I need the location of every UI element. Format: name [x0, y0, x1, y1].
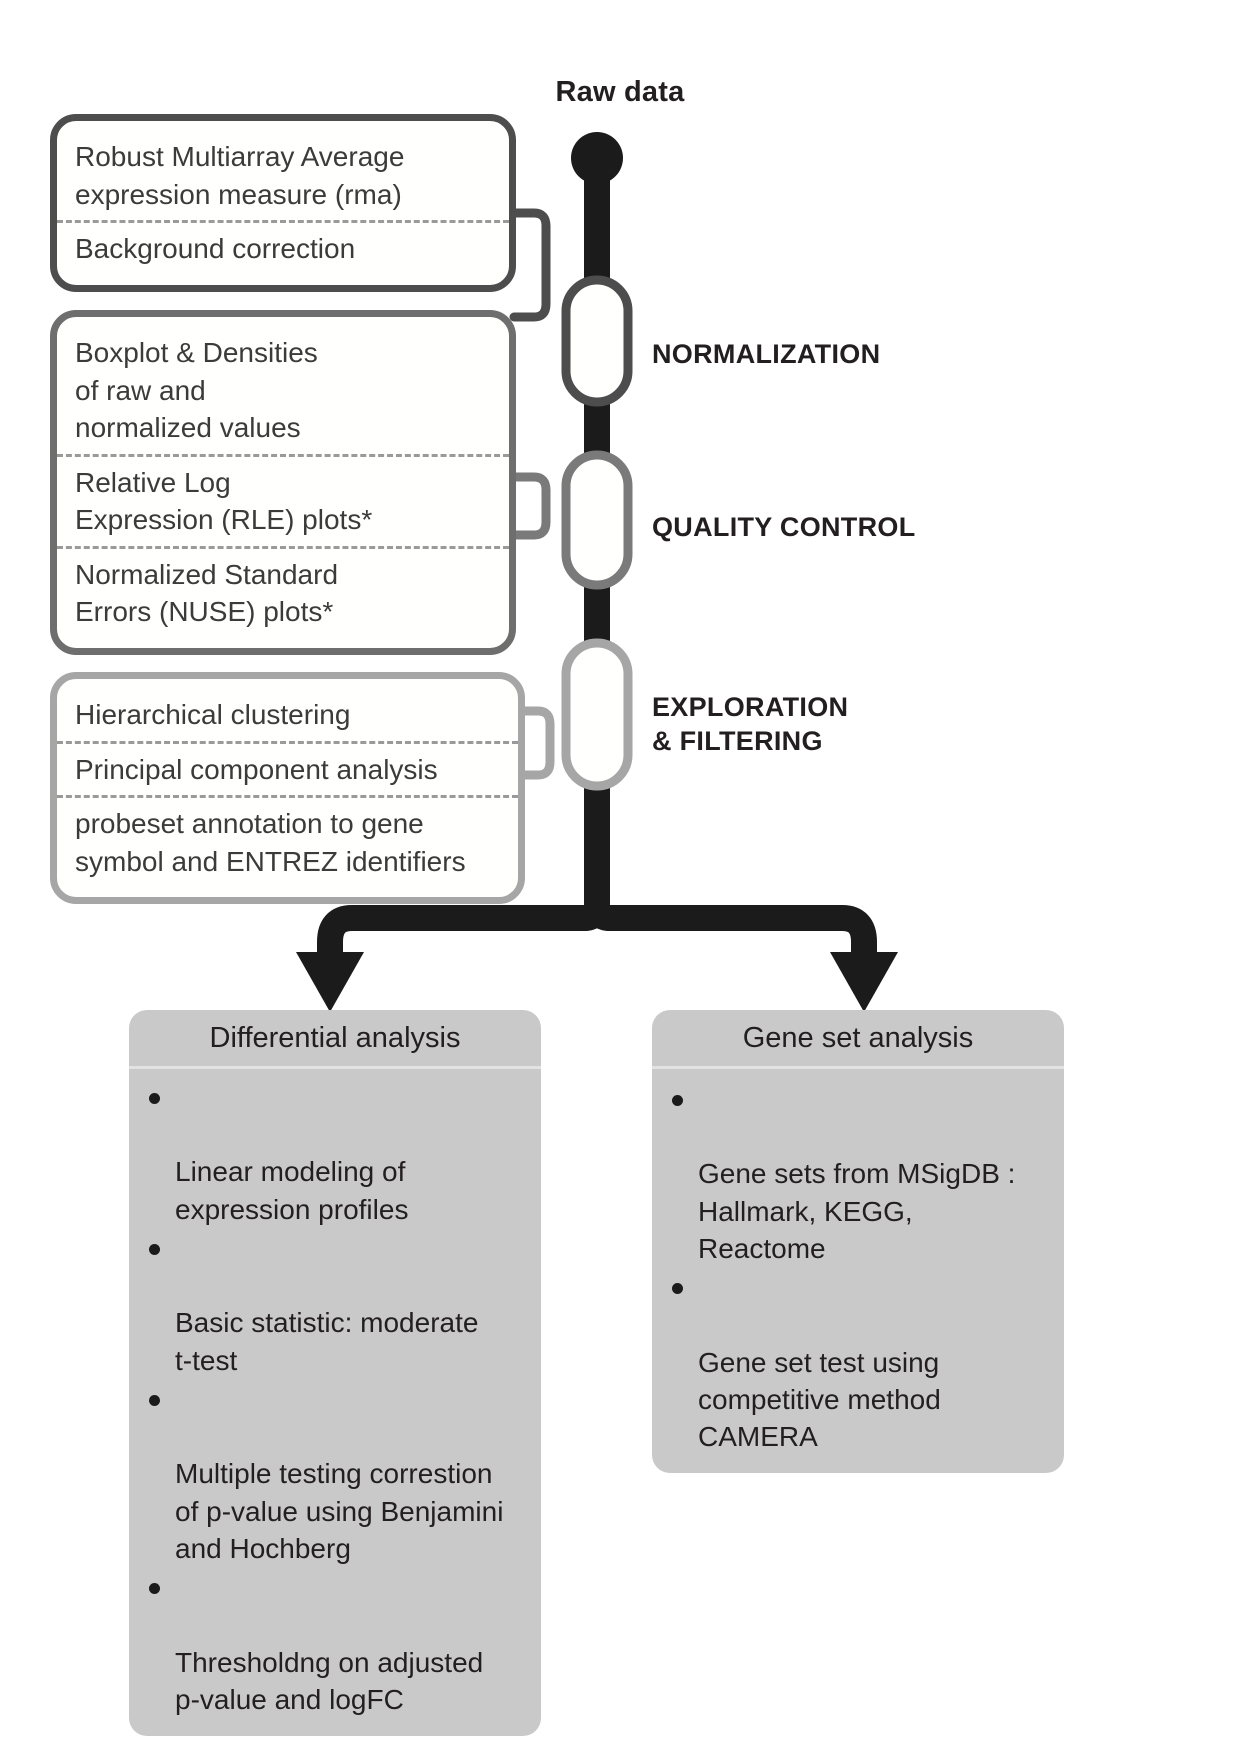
spine-line	[584, 160, 610, 900]
spine-group	[571, 132, 623, 900]
list-item-label: Basic statistic: moderate t-test	[175, 1307, 478, 1375]
bullet-icon	[149, 1583, 160, 1594]
list-item: Basic statistic: moderate t-test	[145, 1230, 527, 1379]
panel-title: Differential analysis	[129, 1010, 541, 1069]
step-box-normalization[interactable]: Robust Multiarray Average expression mea…	[50, 114, 516, 292]
stage-label-quality-control: QUALITY CONTROL	[652, 510, 916, 544]
list-item: Linear modeling of expression profiles	[145, 1079, 527, 1228]
connector-quality-control	[513, 477, 546, 535]
step-segment: Boxplot & Densities of raw and normalize…	[57, 327, 509, 454]
connector-exploration	[522, 711, 550, 775]
raw-data-node	[571, 132, 623, 184]
list-item-label: Multiple testing correstion of p-value u…	[175, 1458, 503, 1563]
bullet-icon	[149, 1395, 160, 1406]
step-segment: Relative Log Expression (RLE) plots*	[57, 454, 509, 546]
step-box-quality-control[interactable]: Boxplot & Densities of raw and normalize…	[50, 310, 516, 655]
step-segment: Robust Multiarray Average expression mea…	[57, 131, 509, 220]
stage-label-normalization: NORMALIZATION	[652, 337, 880, 371]
arrowhead-right	[830, 952, 898, 1012]
bullet-icon	[672, 1095, 683, 1106]
bullet-icon	[149, 1093, 160, 1104]
panel-differential-analysis[interactable]: Differential analysis Linear modeling of…	[129, 1010, 541, 1736]
step-segment: Background correction	[57, 220, 509, 275]
bullet-icon	[672, 1283, 683, 1294]
panel-title: Gene set analysis	[652, 1010, 1064, 1069]
flowchart-canvas: Raw data Robust Multiarray Average expre…	[0, 0, 1240, 1753]
list-item: Multiple testing correstion of p-value u…	[145, 1381, 527, 1567]
capsule-exploration	[566, 643, 628, 786]
panel-item-list: Linear modeling of expression profiles B…	[129, 1069, 541, 1736]
step-segment: probeset annotation to gene symbol and E…	[57, 795, 518, 887]
step-segment: Principal component analysis	[57, 741, 518, 796]
step-segment: Hierarchical clustering	[57, 689, 518, 741]
panel-item-list: Gene sets from MSigDB : Hallmark, KEGG, …	[652, 1069, 1064, 1473]
capsule-normalization	[566, 280, 628, 402]
stage-label-exploration: EXPLORATION & FILTERING	[652, 690, 848, 758]
panel-gene-set-analysis[interactable]: Gene set analysis Gene sets from MSigDB …	[652, 1010, 1064, 1473]
list-item: Gene set test using competitive method C…	[668, 1269, 1050, 1455]
list-item-label: Thresholdng on adjusted p-value and logF…	[175, 1647, 483, 1715]
list-item-label: Linear modeling of expression profiles	[175, 1156, 408, 1224]
step-box-exploration[interactable]: Hierarchical clustering Principal compon…	[50, 672, 525, 904]
step-segment: Normalized Standard Errors (NUSE) plots*	[57, 546, 509, 638]
list-item-label: Gene sets from MSigDB : Hallmark, KEGG, …	[698, 1158, 1015, 1263]
capsule-quality-control	[566, 455, 628, 585]
list-item: Thresholdng on adjusted p-value and logF…	[145, 1569, 527, 1718]
connector-normalization	[513, 213, 546, 317]
list-item: Gene sets from MSigDB : Hallmark, KEGG, …	[668, 1081, 1050, 1267]
page-title: Raw data	[500, 76, 740, 109]
arrowhead-left	[296, 952, 364, 1012]
list-item-label: Gene set test using competitive method C…	[698, 1347, 941, 1452]
bullet-icon	[149, 1244, 160, 1255]
